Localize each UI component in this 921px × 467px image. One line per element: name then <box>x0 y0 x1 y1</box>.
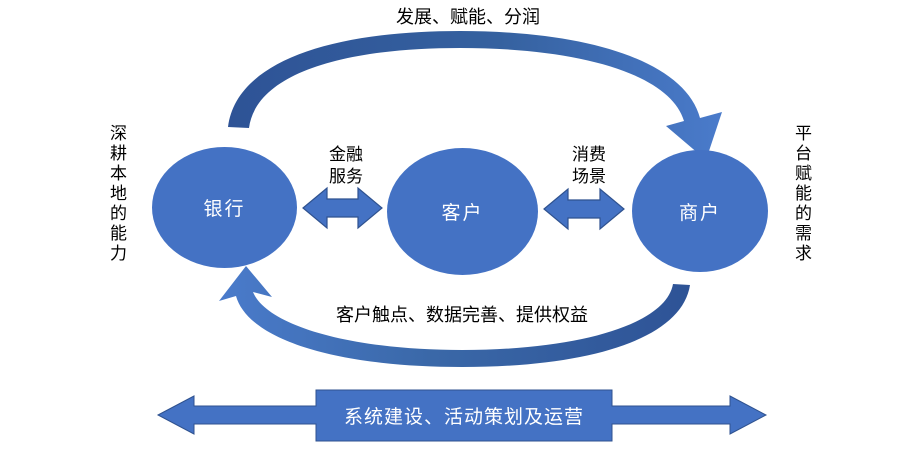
top-curved-arrow <box>228 31 722 160</box>
link-label-consumption-scene: 消费 场景 <box>543 144 635 188</box>
arrow-customer-merchant <box>544 189 624 229</box>
arrow-bank-customer <box>303 188 382 228</box>
bottom-bar-label: 系统建设、活动策划及运营 <box>316 390 612 441</box>
node-bank-label: 银行 <box>203 194 245 221</box>
diagram-canvas: 银行 客户 商户 金融 服务 消费 场景 发展、赋能、分润 客户触点、数据完善、… <box>0 0 921 467</box>
link-label-financial-services: 金融 服务 <box>300 144 392 188</box>
node-merchant-label: 商户 <box>679 198 721 225</box>
arc-label-top: 发展、赋能、分润 <box>396 3 540 29</box>
node-customer-label: 客户 <box>441 198 483 225</box>
side-label-left-capability: 深耕本地的能力 <box>104 124 129 264</box>
arc-label-bottom: 客户触点、数据完善、提供权益 <box>336 301 588 327</box>
node-merchant[interactable]: 商户 <box>632 150 768 272</box>
node-customer[interactable]: 客户 <box>387 148 538 275</box>
node-bank[interactable]: 银行 <box>152 147 297 268</box>
side-label-right-demand: 平台赋能的需求 <box>789 124 814 264</box>
